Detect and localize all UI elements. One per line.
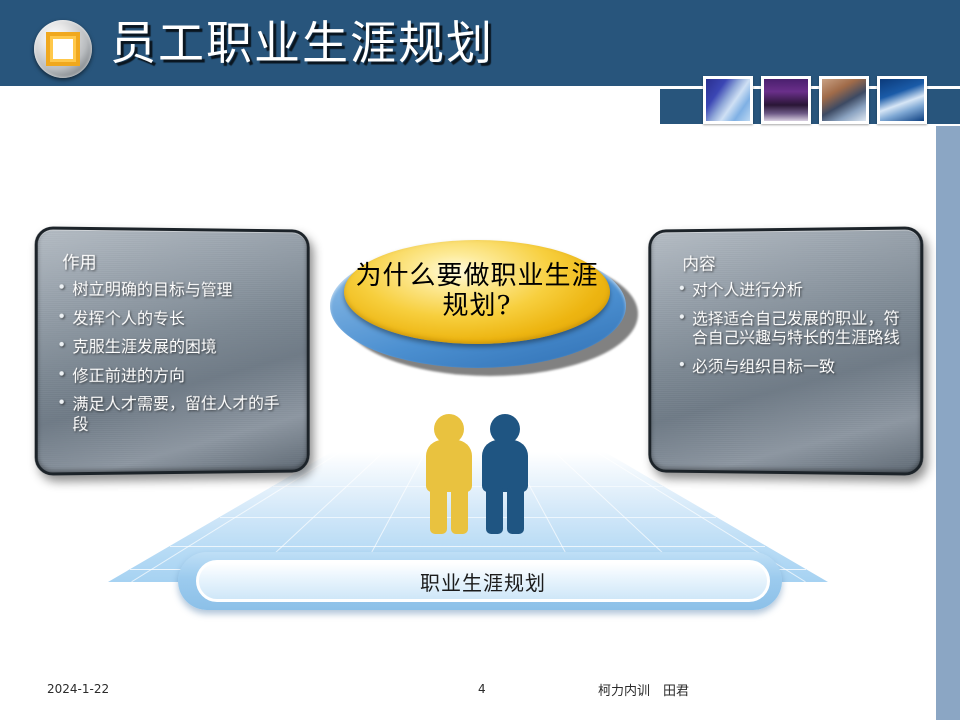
page-title: 员工职业生涯规划 — [110, 10, 494, 76]
logo-square-glyph — [46, 32, 80, 66]
header-divider-right — [660, 124, 960, 126]
list-item: 对个人进行分析 — [675, 279, 904, 300]
thumb-skyscraper — [877, 76, 927, 124]
list-item: 修正前进的方向 — [54, 365, 291, 385]
slide: 员工职业生涯规划 作用 树立明确的目标与管理 发挥个人的专长 克服生涯发展的困境… — [0, 0, 960, 720]
floor-gridline-horizontal — [170, 546, 765, 547]
list-item: 满足人才需要，留住人才的手段 — [54, 394, 291, 434]
thumb-glass-tower — [703, 76, 753, 124]
left-panel-list: 树立明确的目标与管理 发挥个人的专长 克服生涯发展的困境 修正前进的方向 满足人… — [54, 279, 291, 434]
footer-author: 柯力内训 田君 — [598, 680, 689, 699]
central-question-badge: 为什么要做职业生涯规划? — [326, 238, 638, 378]
person-body — [482, 440, 528, 492]
header-thumbnail-strip — [703, 76, 927, 124]
footer: 2024-1-22 4 柯力内训 田君 — [0, 676, 936, 706]
square-logo-icon — [34, 20, 92, 78]
person-figure-yellow — [424, 414, 474, 534]
people-group — [424, 414, 536, 534]
right-info-panel: 内容 对个人进行分析 选择适合自己发展的职业，符合自己兴趣与特长的生涯路线 必须… — [648, 226, 923, 475]
person-figure-blue — [480, 414, 530, 534]
footer-page-number: 4 — [478, 682, 486, 696]
person-leg-left — [486, 486, 503, 534]
person-leg-right — [451, 486, 468, 534]
person-leg-right — [507, 486, 524, 534]
footer-date: 2024-1-22 — [47, 682, 109, 696]
bottom-banner: 职业生涯规划 — [196, 560, 770, 602]
list-item: 必须与组织目标一致 — [675, 356, 904, 376]
left-panel-heading: 作用 — [62, 248, 291, 275]
list-item: 树立明确的目标与管理 — [54, 279, 291, 300]
right-panel-list: 对个人进行分析 选择适合自己发展的职业，符合自己兴趣与特长的生涯路线 必须与组织… — [675, 279, 904, 376]
list-item: 克服生涯发展的困境 — [54, 337, 291, 357]
person-body — [426, 440, 472, 492]
list-item: 选择适合自己发展的职业，符合自己兴趣与特长的生涯路线 — [675, 308, 904, 348]
right-edge-strip — [936, 126, 960, 720]
person-leg-left — [430, 486, 447, 534]
thumb-city-night — [761, 76, 811, 124]
central-question-text: 为什么要做职业生涯规划? — [344, 240, 610, 344]
list-item: 发挥个人的专长 — [54, 308, 291, 328]
left-info-panel: 作用 树立明确的目标与管理 发挥个人的专长 克服生涯发展的困境 修正前进的方向 … — [35, 226, 310, 475]
right-panel-heading: 内容 — [682, 248, 904, 275]
thumb-phone-call — [819, 76, 869, 124]
